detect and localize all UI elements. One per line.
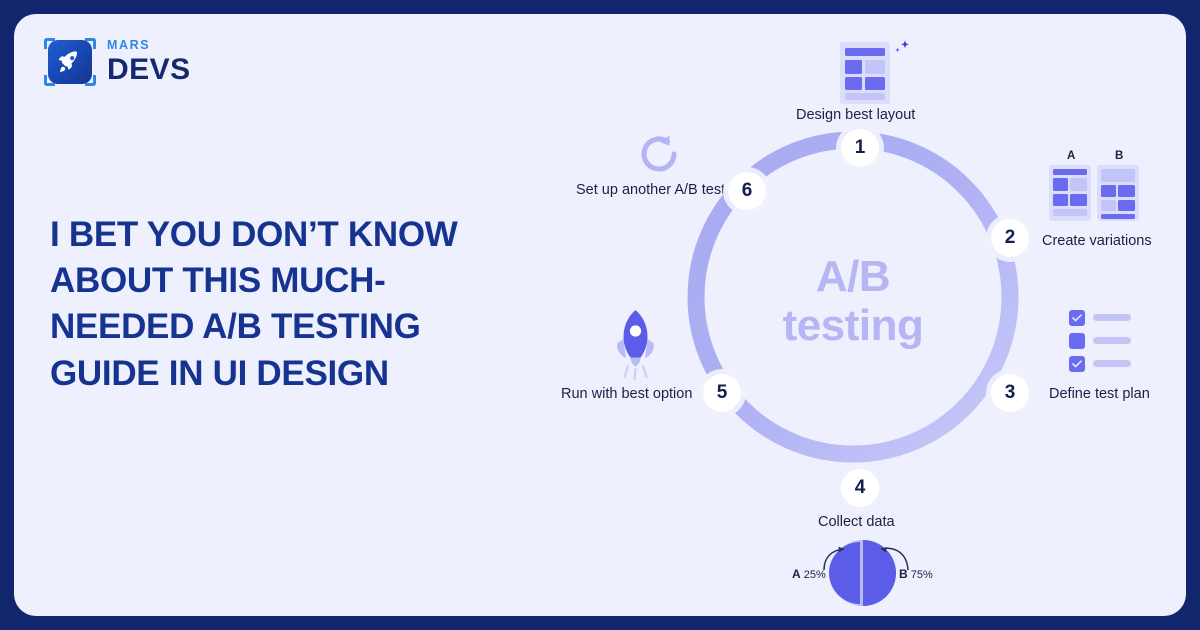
- pie-label-b-name: B: [899, 567, 908, 581]
- poster-card: MARS DEVS I BET YOU DON’T KNOW ABOUT THI…: [14, 14, 1186, 616]
- variation-a-letter: A: [1067, 150, 1075, 162]
- brand-wordmark: MARS DEVS: [107, 39, 191, 85]
- pie-label-b-value: 75%: [911, 569, 933, 581]
- wireframe-layout-icon: [840, 42, 890, 104]
- step-badge-1[interactable]: 1: [841, 129, 879, 167]
- step-badge-5[interactable]: 5: [703, 374, 741, 412]
- checklist-icon: [1069, 310, 1149, 372]
- pie-label-a: A 25%: [792, 567, 826, 581]
- diagram-center-label: A/B testing: [718, 252, 988, 351]
- rocket-launch-icon: [600, 304, 672, 380]
- pie-label-a-name: A: [792, 567, 801, 581]
- step-label-4: Collect data: [818, 514, 895, 530]
- step-label-1: Design best layout: [796, 107, 915, 123]
- step-label-6: Set up another A/B test: [576, 182, 725, 198]
- brand-top-text: MARS: [107, 39, 191, 52]
- page-title: I BET YOU DON’T KNOW ABOUT THIS MUCH-NEE…: [50, 212, 510, 397]
- two-variants-icon-a: [1049, 165, 1091, 221]
- center-line-2: testing: [718, 301, 988, 350]
- refresh-loop-icon: [636, 133, 684, 179]
- ab-testing-cycle-diagram: A/B testing Design best layout 1 A B: [524, 14, 1186, 616]
- step-badge-4[interactable]: 4: [841, 469, 879, 507]
- step-label-3: Define test plan: [1049, 386, 1150, 402]
- brand-bottom-text: DEVS: [107, 55, 191, 85]
- rocket-icon: [44, 36, 96, 88]
- step-label-2: Create variations: [1042, 233, 1152, 249]
- pie-chart-icon: [824, 536, 898, 610]
- two-variants-icon-b: [1097, 165, 1139, 221]
- center-line-1: A/B: [718, 252, 988, 301]
- brand-logo[interactable]: MARS DEVS: [44, 36, 191, 88]
- sparkle-icon: [888, 38, 914, 64]
- pie-label-a-value: 25%: [804, 569, 826, 581]
- step-badge-6[interactable]: 6: [728, 172, 766, 210]
- step-label-5: Run with best option: [561, 386, 692, 402]
- step-badge-2[interactable]: 2: [991, 219, 1029, 257]
- step-badge-3[interactable]: 3: [991, 374, 1029, 412]
- variation-b-letter: B: [1115, 150, 1123, 162]
- pie-label-b: B 75%: [899, 567, 933, 581]
